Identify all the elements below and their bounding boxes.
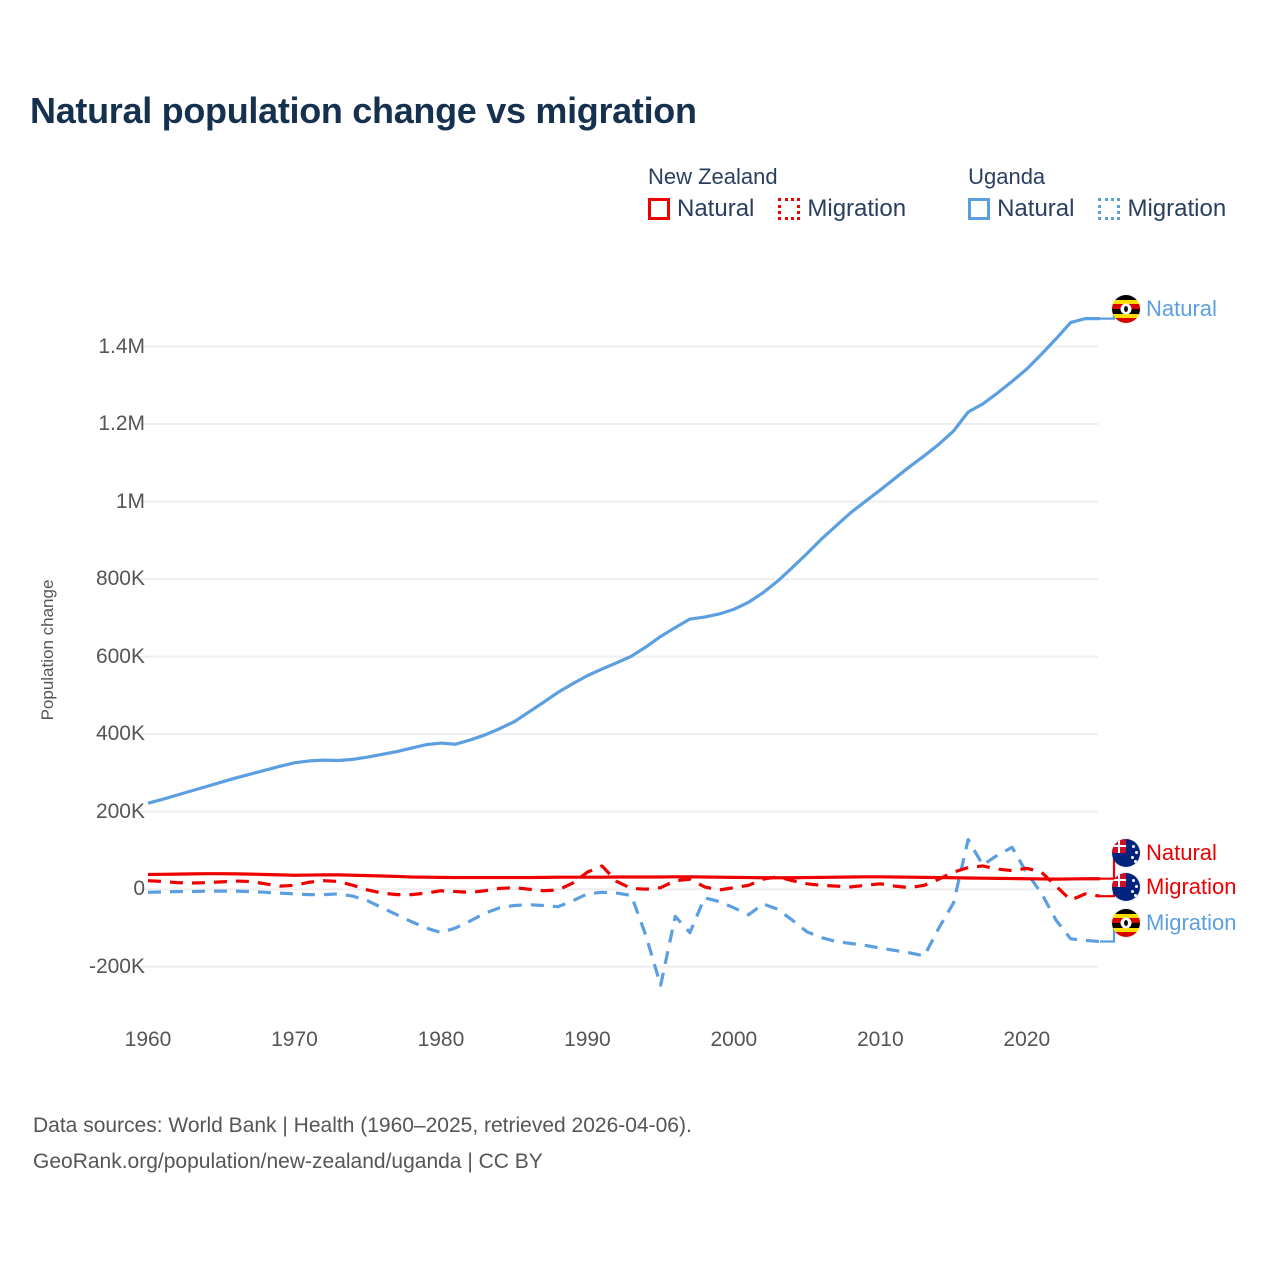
- x-tick-label: 1990: [564, 1028, 611, 1052]
- footer-line-2: GeoRank.org/population/new-zealand/ugand…: [33, 1144, 692, 1180]
- series-line-uganda-migration: [148, 840, 1100, 986]
- end-label-text: Natural: [1146, 296, 1217, 322]
- x-tick-label: 1970: [271, 1028, 318, 1052]
- x-tick-label: 2000: [710, 1028, 757, 1052]
- x-tick-label: 2010: [857, 1028, 904, 1052]
- y-tick-label: 1M: [116, 490, 145, 514]
- chart-canvas: [0, 0, 1280, 1280]
- end-label-migration-3[interactable]: Migration: [1112, 909, 1236, 937]
- end-label-text: Migration: [1146, 874, 1236, 900]
- y-tick-label: 0: [133, 877, 145, 901]
- line-chart: -200K0200K400K600K800K1M1.2M1.4M 1960197…: [0, 0, 1280, 1280]
- end-label-natural-0[interactable]: Natural: [1112, 295, 1217, 323]
- end-label-text: Natural: [1146, 840, 1217, 866]
- x-tick-label: 2020: [1003, 1028, 1050, 1052]
- y-tick-label: -200K: [89, 955, 145, 979]
- footer-attribution: Data sources: World Bank | Health (1960–…: [33, 1108, 692, 1180]
- y-tick-label: 600K: [96, 645, 145, 669]
- y-tick-label: 200K: [96, 800, 145, 824]
- new-zealand-flag-icon: [1112, 839, 1140, 867]
- y-axis-label: Population change: [38, 580, 58, 721]
- footer-line-1: Data sources: World Bank | Health (1960–…: [33, 1108, 692, 1144]
- series-line-uganda-natural: [148, 319, 1100, 804]
- y-tick-label: 1.2M: [98, 412, 145, 436]
- y-tick-label: 1.4M: [98, 335, 145, 359]
- end-label-text: Migration: [1146, 910, 1236, 936]
- x-tick-label: 1960: [125, 1028, 172, 1052]
- new-zealand-flag-icon: [1112, 873, 1140, 901]
- series-line-new-zealand-natural: [148, 874, 1100, 879]
- uganda-flag-icon: [1112, 909, 1140, 937]
- end-label-migration-2[interactable]: Migration: [1112, 873, 1236, 901]
- y-tick-label: 400K: [96, 722, 145, 746]
- uganda-flag-icon: [1112, 295, 1140, 323]
- end-label-natural-1[interactable]: Natural: [1112, 839, 1217, 867]
- x-tick-label: 1980: [418, 1028, 465, 1052]
- y-tick-label: 800K: [96, 567, 145, 591]
